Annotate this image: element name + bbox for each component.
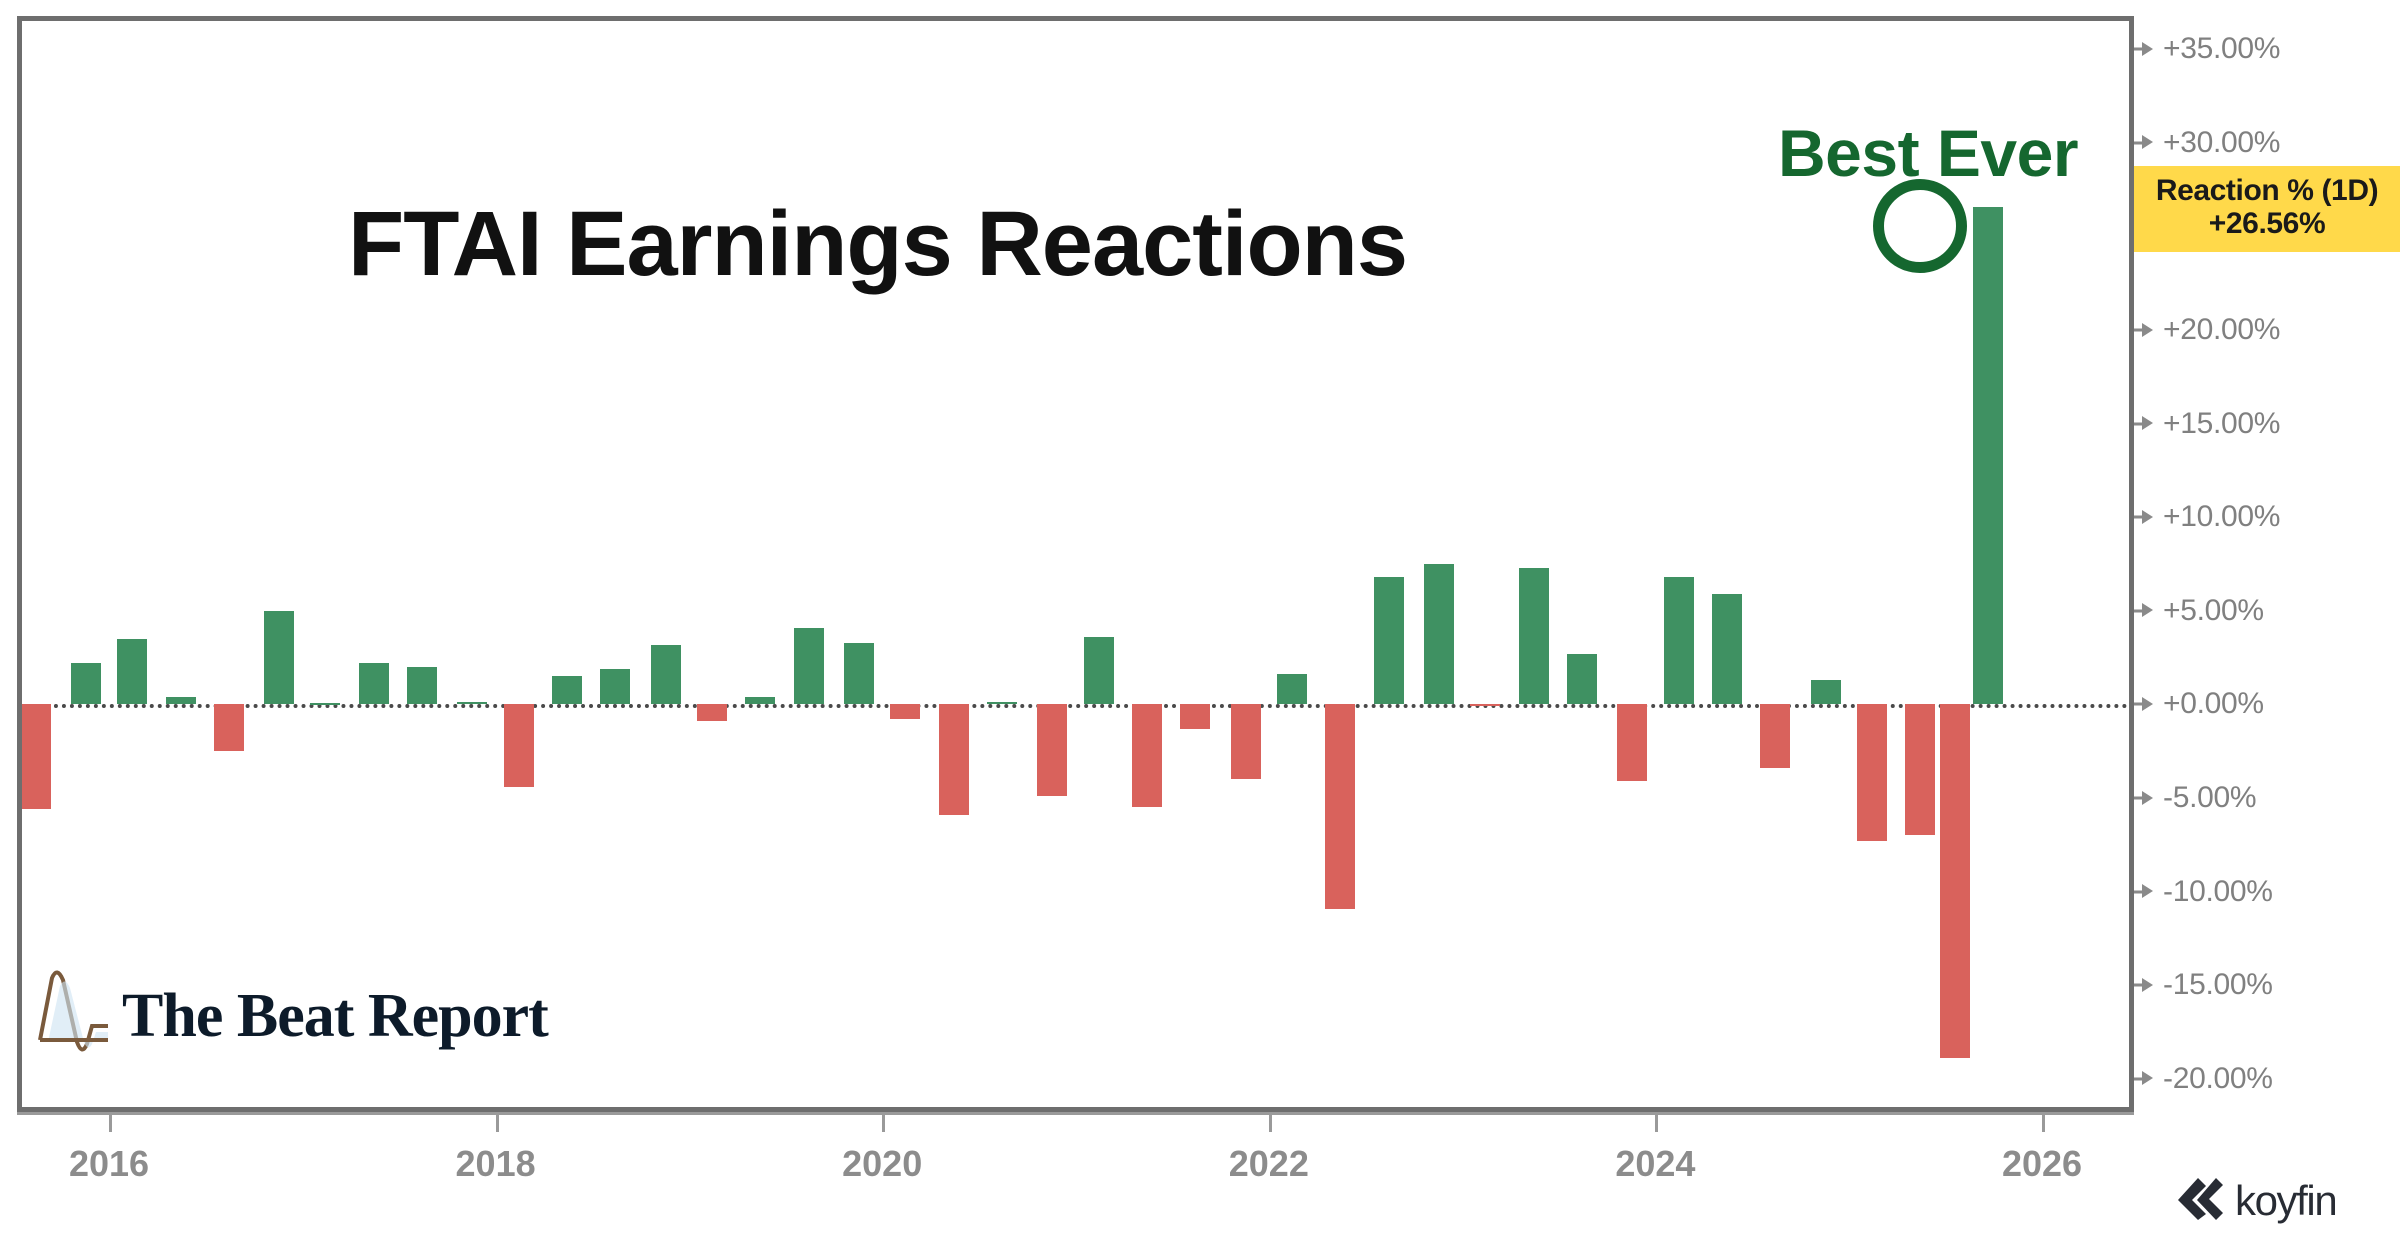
bar-29[interactable]	[1424, 564, 1454, 704]
y-tick-label-8: -5.00%	[2142, 781, 2256, 815]
bar-13[interactable]	[651, 645, 681, 705]
bar-23[interactable]	[1132, 704, 1162, 807]
reaction-tooltip-badge[interactable]: Reaction % (1D) +26.56%	[2134, 166, 2400, 252]
bar-14[interactable]	[697, 704, 727, 721]
bar-41[interactable]	[1973, 207, 2003, 704]
y-tick-text: +10.00%	[2163, 500, 2280, 533]
bar-3[interactable]	[166, 697, 196, 704]
y-tick-text: -20.00%	[2163, 1062, 2273, 1095]
y-tick-label-10: -15.00%	[2142, 968, 2273, 1002]
y-tick-text: -15.00%	[2163, 968, 2273, 1001]
y-tick-text: -5.00%	[2163, 781, 2256, 814]
bar-30[interactable]	[1470, 704, 1500, 706]
bar-4[interactable]	[214, 704, 244, 751]
bar-10[interactable]	[504, 704, 534, 786]
bar-39[interactable]	[1905, 704, 1935, 835]
tooltip-value: +26.56%	[2140, 207, 2394, 241]
bar-37[interactable]	[1811, 680, 1841, 704]
y-tick-arrow-icon	[2142, 978, 2153, 992]
x-tick-label-3: 2022	[1229, 1143, 1309, 1185]
bar-31[interactable]	[1519, 568, 1549, 705]
x-tick-mark-5	[2042, 1112, 2045, 1132]
bar-8[interactable]	[407, 667, 437, 704]
bar-40[interactable]	[1940, 704, 1970, 1058]
y-tick-label-3: +20.00%	[2142, 313, 2280, 347]
bar-5[interactable]	[264, 611, 294, 705]
bar-36[interactable]	[1760, 704, 1790, 768]
best-ever-circle-icon	[1873, 179, 1967, 273]
y-tick-text: +20.00%	[2163, 313, 2280, 346]
bar-15[interactable]	[745, 697, 775, 704]
bar-38[interactable]	[1857, 704, 1887, 841]
bar-18[interactable]	[890, 704, 920, 719]
y-tick-text: +5.00%	[2163, 594, 2264, 627]
bar-1[interactable]	[71, 663, 101, 704]
bar-27[interactable]	[1325, 704, 1355, 908]
x-tick-mark-2	[882, 1112, 885, 1132]
y-tick-arrow-icon	[2142, 791, 2153, 805]
bar-20[interactable]	[987, 702, 1017, 705]
y-tick-text: +15.00%	[2163, 407, 2280, 440]
y-tick-text: +0.00%	[2163, 687, 2264, 720]
x-tick-label-0: 2016	[69, 1143, 149, 1185]
bar-11[interactable]	[552, 676, 582, 704]
y-tick-arrow-icon	[2142, 42, 2153, 56]
x-axis-line	[17, 1112, 2134, 1115]
bar-2[interactable]	[117, 639, 147, 705]
bar-7[interactable]	[359, 663, 389, 704]
beat-report-text: The Beat Report	[122, 981, 548, 1052]
bar-28[interactable]	[1374, 577, 1404, 704]
bar-21[interactable]	[1037, 704, 1067, 796]
koyfin-branding: koyfin	[2176, 1176, 2336, 1225]
bar-32[interactable]	[1567, 654, 1597, 705]
y-tick-label-4: +15.00%	[2142, 407, 2280, 441]
y-tick-label-11: -20.00%	[2142, 1062, 2273, 1096]
bar-17[interactable]	[844, 643, 874, 705]
bar-9[interactable]	[457, 702, 487, 705]
koyfin-chevron-icon	[2176, 1176, 2224, 1225]
bar-6[interactable]	[310, 703, 340, 705]
bar-25[interactable]	[1231, 704, 1261, 779]
chart-title: FTAI Earnings Reactions	[348, 192, 1407, 297]
y-tick-label-0: +35.00%	[2142, 32, 2280, 66]
bar-12[interactable]	[600, 669, 630, 705]
y-tick-label-9: -10.00%	[2142, 875, 2273, 909]
x-tick-label-5: 2026	[2002, 1143, 2082, 1185]
bar-16[interactable]	[794, 628, 824, 705]
y-tick-arrow-icon	[2142, 1071, 2153, 1085]
x-tick-label-2: 2020	[842, 1143, 922, 1185]
x-tick-label-1: 2018	[456, 1143, 536, 1185]
bar-35[interactable]	[1712, 594, 1742, 704]
y-tick-label-7: +0.00%	[2142, 687, 2264, 721]
y-tick-text: +30.00%	[2163, 126, 2280, 159]
bar-33[interactable]	[1617, 704, 1647, 781]
y-tick-arrow-icon	[2142, 884, 2153, 898]
chart-canvas: FTAI Earnings Reactions Best Ever +35.00…	[0, 0, 2400, 1240]
y-tick-arrow-icon	[2142, 323, 2153, 337]
y-tick-label-6: +5.00%	[2142, 594, 2264, 628]
bar-24[interactable]	[1180, 704, 1210, 728]
x-tick-mark-4	[1655, 1112, 1658, 1132]
koyfin-text: koyfin	[2235, 1177, 2336, 1225]
y-tick-arrow-icon	[2142, 697, 2153, 711]
x-tick-mark-3	[1269, 1112, 1272, 1132]
tooltip-title: Reaction % (1D)	[2140, 175, 2394, 207]
zero-baseline	[22, 704, 2129, 708]
bar-34[interactable]	[1664, 577, 1694, 704]
wave-logo-icon	[30, 968, 116, 1065]
x-tick-label-4: 2024	[1615, 1143, 1695, 1185]
y-tick-arrow-icon	[2142, 510, 2153, 524]
y-tick-arrow-icon	[2142, 603, 2153, 617]
x-tick-mark-0	[109, 1112, 112, 1132]
y-tick-label-1: +30.00%	[2142, 126, 2280, 160]
y-tick-arrow-icon	[2142, 416, 2153, 430]
y-tick-arrow-icon	[2142, 135, 2153, 149]
y-tick-label-5: +10.00%	[2142, 500, 2280, 534]
bar-26[interactable]	[1277, 674, 1307, 704]
x-tick-mark-1	[496, 1112, 499, 1132]
bar-19[interactable]	[939, 704, 969, 814]
bar-22[interactable]	[1084, 637, 1114, 704]
y-tick-text: -10.00%	[2163, 875, 2273, 908]
beat-report-watermark: The Beat Report	[30, 968, 548, 1065]
y-tick-text: +35.00%	[2163, 32, 2280, 65]
bar-0[interactable]	[22, 704, 51, 809]
